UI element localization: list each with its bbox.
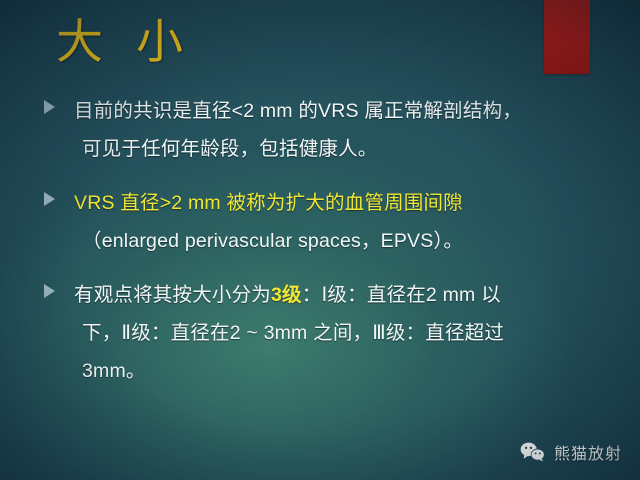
bullet-3-line-1-part-b: ：Ⅰ级：直径在2 mm 以 bbox=[302, 284, 501, 306]
bullet-3-line-3: 3mm。 bbox=[74, 352, 608, 390]
triangle-bullet-icon bbox=[44, 192, 55, 206]
watermark-label: 熊猫放射 bbox=[554, 440, 622, 464]
wechat-icon bbox=[520, 441, 546, 463]
triangle-bullet-icon bbox=[44, 100, 55, 114]
triangle-bullet-icon bbox=[44, 284, 55, 298]
page-title: 大 小 bbox=[56, 13, 193, 71]
slide-canvas: 大 小 目前的共识是直径<2 mm 的VRS 属正常解剖结构， 可见于任何年龄段… bbox=[0, 0, 640, 480]
bullet-item-3: 有观点将其按大小分为3级：Ⅰ级：直径在2 mm 以 下，Ⅱ级：直径在2 ~ 3m… bbox=[38, 276, 608, 390]
bullet-item-2: VRS 直径>2 mm 被称为扩大的血管周围间隙 （enlarged periv… bbox=[38, 184, 608, 260]
bullet-1-line-2: 可见于任何年龄段，包括健康人。 bbox=[74, 130, 608, 168]
bullet-2-line-2: （enlarged perivascular spaces，EPVS）。 bbox=[74, 222, 608, 260]
bullet-3-line-1-part-a: 有观点将其按大小分为 bbox=[74, 284, 271, 306]
bullet-2-text: VRS 直径>2 mm 被称为扩大的血管周围间隙 （enlarged periv… bbox=[74, 184, 608, 260]
bullet-2-line-1: VRS 直径>2 mm 被称为扩大的血管周围间隙 bbox=[74, 192, 463, 214]
red-accent-block bbox=[544, 0, 590, 74]
bullet-3-grade-highlight: 3级 bbox=[271, 284, 302, 306]
watermark: 熊猫放射 bbox=[520, 440, 622, 464]
bullet-3-line-2: 下，Ⅱ级：直径在2 ~ 3mm 之间，Ⅲ级：直径超过 bbox=[74, 314, 608, 352]
bullet-1-text: 目前的共识是直径<2 mm 的VRS 属正常解剖结构， 可见于任何年龄段，包括健… bbox=[74, 92, 608, 168]
bullet-3-text: 有观点将其按大小分为3级：Ⅰ级：直径在2 mm 以 下，Ⅱ级：直径在2 ~ 3m… bbox=[74, 276, 608, 390]
slide-body: 目前的共识是直径<2 mm 的VRS 属正常解剖结构， 可见于任何年龄段，包括健… bbox=[38, 92, 608, 406]
bullet-item-1: 目前的共识是直径<2 mm 的VRS 属正常解剖结构， 可见于任何年龄段，包括健… bbox=[38, 92, 608, 168]
bullet-1-line-1: 目前的共识是直径<2 mm 的VRS 属正常解剖结构， bbox=[74, 100, 522, 122]
